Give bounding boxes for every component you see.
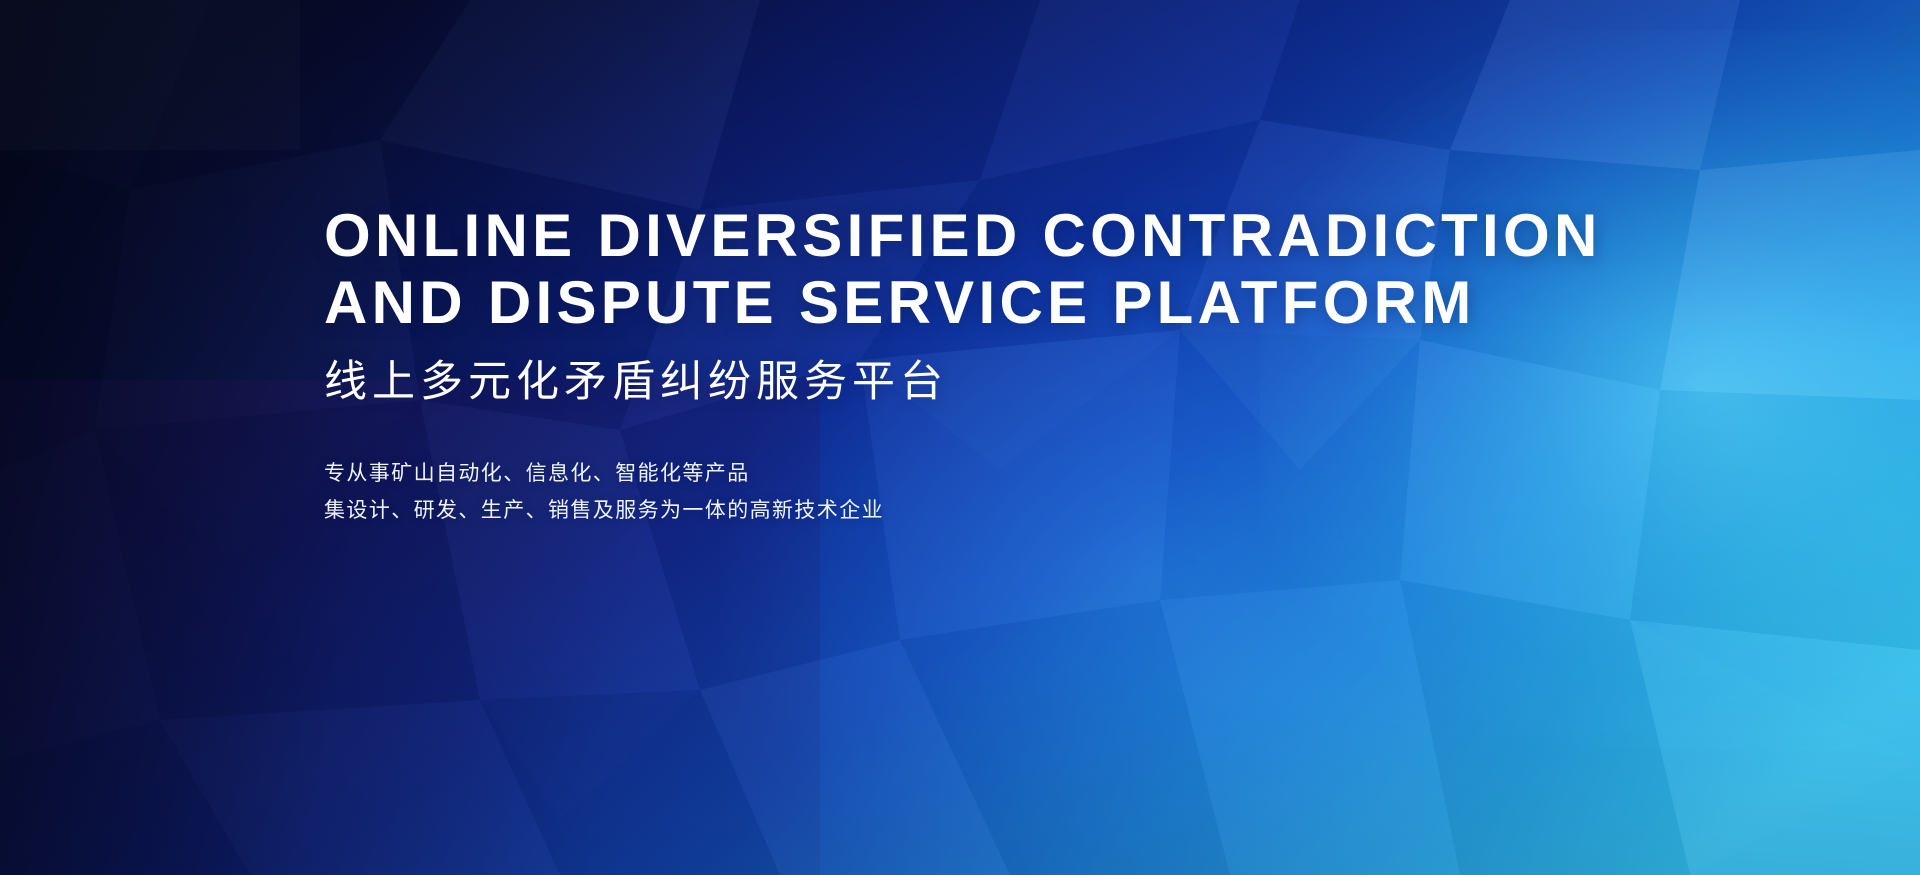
hero-banner: ONLINE DIVERSIFIED CONTRADICTION AND DIS…	[0, 0, 1920, 875]
subtitle-line-1: 专从事矿山自动化、信息化、智能化等产品	[324, 456, 1664, 493]
hero-text-block: ONLINE DIVERSIFIED CONTRADICTION AND DIS…	[324, 202, 1664, 530]
subtitle-block: 专从事矿山自动化、信息化、智能化等产品 集设计、研发、生产、销售及服务为一体的高…	[324, 456, 1664, 530]
subtitle-line-2: 集设计、研发、生产、销售及服务为一体的高新技术企业	[324, 493, 1664, 530]
headline-english: ONLINE DIVERSIFIED CONTRADICTION AND DIS…	[324, 202, 1664, 336]
headline-line-2: AND DISPUTE SERVICE PLATFORM	[324, 269, 1664, 336]
headline-chinese: 线上多元化矛盾纠纷服务平台	[324, 356, 1664, 410]
headline-line-1: ONLINE DIVERSIFIED CONTRADICTION	[324, 202, 1602, 269]
